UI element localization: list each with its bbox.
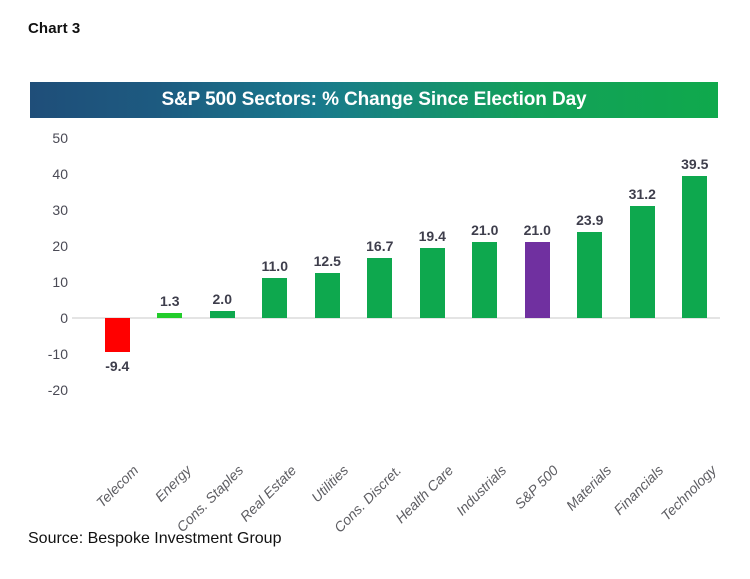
- chart-title: S&P 500 Sectors: % Change Since Election…: [161, 89, 586, 111]
- x-axis-tick: Materials: [563, 462, 614, 513]
- bar-financials: [630, 206, 655, 318]
- bar-value-label: 23.9: [560, 212, 620, 228]
- bar-utilities: [315, 273, 340, 318]
- bar-value-label: -9.4: [87, 358, 147, 374]
- bar-value-label: 21.0: [455, 222, 515, 238]
- bar-cons-staples: [210, 311, 235, 318]
- bar-cons-discret: [367, 258, 392, 318]
- bar-energy: [157, 313, 182, 318]
- y-axis-tick: 50: [20, 131, 68, 145]
- chart-container: S&P 500 Sectors: % Change Since Election…: [0, 60, 750, 500]
- bar-value-label: 16.7: [350, 238, 410, 254]
- y-axis-tick: 40: [20, 167, 68, 181]
- bar-value-label: 1.3: [140, 293, 200, 309]
- y-axis: 50403020100-10-20: [20, 138, 68, 388]
- bar-value-label: 31.2: [612, 186, 672, 202]
- bar-value-label: 39.5: [665, 156, 725, 172]
- bar-technology: [682, 176, 707, 318]
- bar-value-label: 19.4: [402, 228, 462, 244]
- source-note: Source: Bespoke Investment Group: [28, 530, 281, 548]
- x-axis-tick: S&P 500: [512, 462, 562, 512]
- y-axis-tick: 0: [20, 311, 68, 325]
- bar-value-label: 2.0: [192, 291, 252, 307]
- chart-title-bar: S&P 500 Sectors: % Change Since Election…: [30, 82, 718, 118]
- y-axis-tick: -20: [20, 383, 68, 397]
- y-axis-tick: 20: [20, 239, 68, 253]
- bar-value-label: 11.0: [245, 258, 305, 274]
- bar-telecom: [105, 318, 130, 352]
- x-axis-tick: Real Estate: [237, 462, 299, 524]
- x-axis-tick: Energy: [151, 462, 194, 505]
- y-axis-tick: -10: [20, 347, 68, 361]
- x-axis-tick: Utilities: [308, 462, 351, 505]
- y-axis-tick: 10: [20, 275, 68, 289]
- x-axis: TelecomEnergyCons. StaplesReal EstateUti…: [0, 460, 750, 570]
- bar-s-p-500: [525, 242, 550, 318]
- page-title: Chart 3: [28, 20, 80, 37]
- bar-materials: [577, 232, 602, 318]
- x-axis-tick: Telecom: [93, 462, 141, 510]
- x-axis-tick: Industrials: [453, 462, 509, 518]
- bar-industrials: [472, 242, 497, 318]
- bar-value-label: 21.0: [507, 222, 567, 238]
- x-axis-tick: Technology: [657, 462, 719, 524]
- bar-value-label: 12.5: [297, 253, 357, 269]
- bar-real-estate: [262, 278, 287, 318]
- x-axis-tick: Financials: [611, 462, 667, 518]
- plot-area: -9.41.32.011.012.516.719.421.021.023.931…: [75, 138, 720, 388]
- bar-health-care: [420, 248, 445, 318]
- y-axis-tick: 30: [20, 203, 68, 217]
